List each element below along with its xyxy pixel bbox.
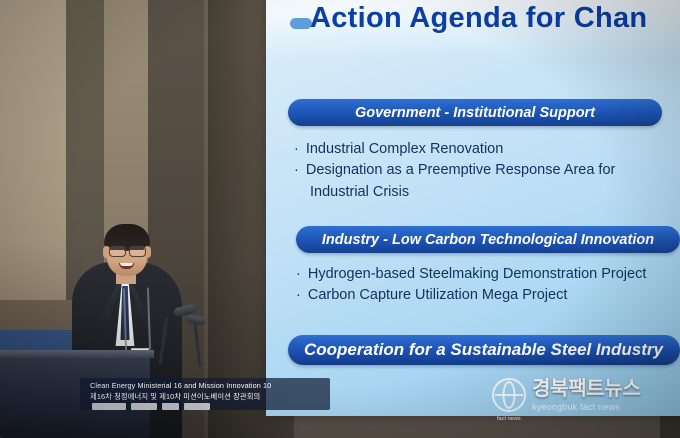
bullet-text: Hydrogen-based Steelmaking Demonstration…	[308, 264, 647, 285]
sponsor-logo-4	[184, 403, 210, 410]
watermark-subtitle: kyeongbuk fact news	[532, 403, 641, 412]
watermark-title: 경북팩트뉴스	[532, 379, 641, 399]
caption-line-korean: 제16차 청정에너지 및 제10차 미션이노베이션 장관회의	[90, 392, 260, 402]
slide-section-header-2: Industry - Low Carbon Technological Inno…	[296, 226, 680, 253]
glasses-bridge	[124, 250, 129, 251]
bullet-item: · Hydrogen-based Steelmaking Demonstrati…	[296, 264, 680, 285]
projection-screen: Action Agenda for Chan Government - Inst…	[266, 0, 680, 416]
speaker-teeth	[120, 263, 133, 266]
bullet-marker: ·	[296, 264, 301, 285]
glasses-lens-right	[129, 246, 146, 257]
speaker-lanyard	[123, 288, 151, 351]
bullet-text: Designation as a Preemptive Response Are…	[306, 160, 616, 181]
globe-icon: fact news	[492, 378, 526, 412]
bullet-text: Industrial Complex Renovation	[306, 139, 503, 160]
slide-section-header-1: Government - Institutional Support	[288, 99, 662, 126]
sponsor-logo-2	[131, 403, 157, 410]
bullet-marker: ·	[294, 160, 299, 181]
slide-bullet-list-2: · Hydrogen-based Steelmaking Demonstrati…	[296, 264, 680, 307]
news-watermark: fact news 경북팩트뉴스 kyeongbuk fact news	[492, 378, 641, 412]
sponsor-logo-1	[92, 403, 126, 410]
glasses-lens-left	[109, 246, 126, 257]
bullet-item: · Designation as a Preemptive Response A…	[294, 160, 674, 181]
slide-title: Action Agenda for Chan	[310, 2, 647, 35]
bullet-marker: ·	[296, 285, 301, 306]
bullet-marker: ·	[294, 139, 299, 160]
watermark-text: 경북팩트뉴스 kyeongbuk fact news	[532, 379, 641, 412]
bullet-item: · Carbon Capture Utilization Mega Projec…	[296, 285, 680, 306]
bullet-continuation: Industrial Crisis	[294, 182, 674, 203]
globe-icon-label: fact news	[497, 416, 521, 422]
caption-line-english: Clean Energy Ministerial 16 and Mission …	[90, 381, 271, 390]
caption-logo-row	[92, 403, 210, 410]
sponsor-logo-3	[162, 403, 179, 410]
title-accent-shape	[290, 18, 312, 29]
bullet-item: · Industrial Complex Renovation	[294, 139, 674, 160]
podium-top-surface	[0, 350, 154, 358]
bullet-text: Carbon Capture Utilization Mega Project	[308, 285, 568, 306]
photo-stage: Action Agenda for Chan Government - Inst…	[0, 0, 680, 438]
slide-bullet-list-1: · Industrial Complex Renovation · Design…	[294, 139, 674, 203]
slide-section-header-3: Cooperation for a Sustainable Steel Indu…	[288, 335, 680, 365]
